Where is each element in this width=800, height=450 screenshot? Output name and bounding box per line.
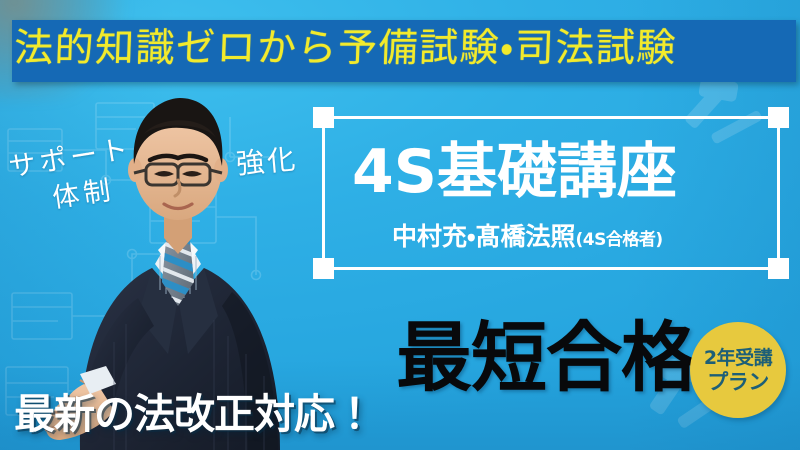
frame-corner-bottom-left	[313, 258, 334, 279]
course-title: 4S基礎講座	[352, 132, 782, 212]
promo-kicker: 最短合格	[396, 316, 696, 400]
course-instructors: 中村充・髙橋法照(4S合格者)	[392, 222, 792, 255]
instructor-names: 中村充・髙橋法照	[392, 222, 576, 251]
frame-corner-top-right	[768, 107, 789, 128]
frame-line-left	[322, 117, 325, 267]
plan-badge-line1: 2年受講	[704, 346, 772, 370]
frame-line-top	[323, 116, 779, 119]
footer-headline: 最新の法改正対応！	[14, 390, 374, 438]
instructor-note: (4S合格者)	[576, 230, 663, 250]
frame-corner-bottom-right	[768, 258, 789, 279]
frame-line-bottom	[323, 267, 779, 270]
plan-badge-line2: プラン	[707, 370, 769, 394]
plan-badge: 2年受講 プラン	[690, 322, 786, 418]
accent-strengthen: 強化	[234, 137, 299, 182]
top-banner-headline: 法的知識ゼロから予備試験・司法試験	[13, 18, 800, 80]
promo-banner: 法的知識ゼロから予備試験・司法試験 サポート 体制 強化 4S基礎講座 中村充・…	[0, 0, 800, 450]
frame-corner-top-left	[313, 107, 334, 128]
